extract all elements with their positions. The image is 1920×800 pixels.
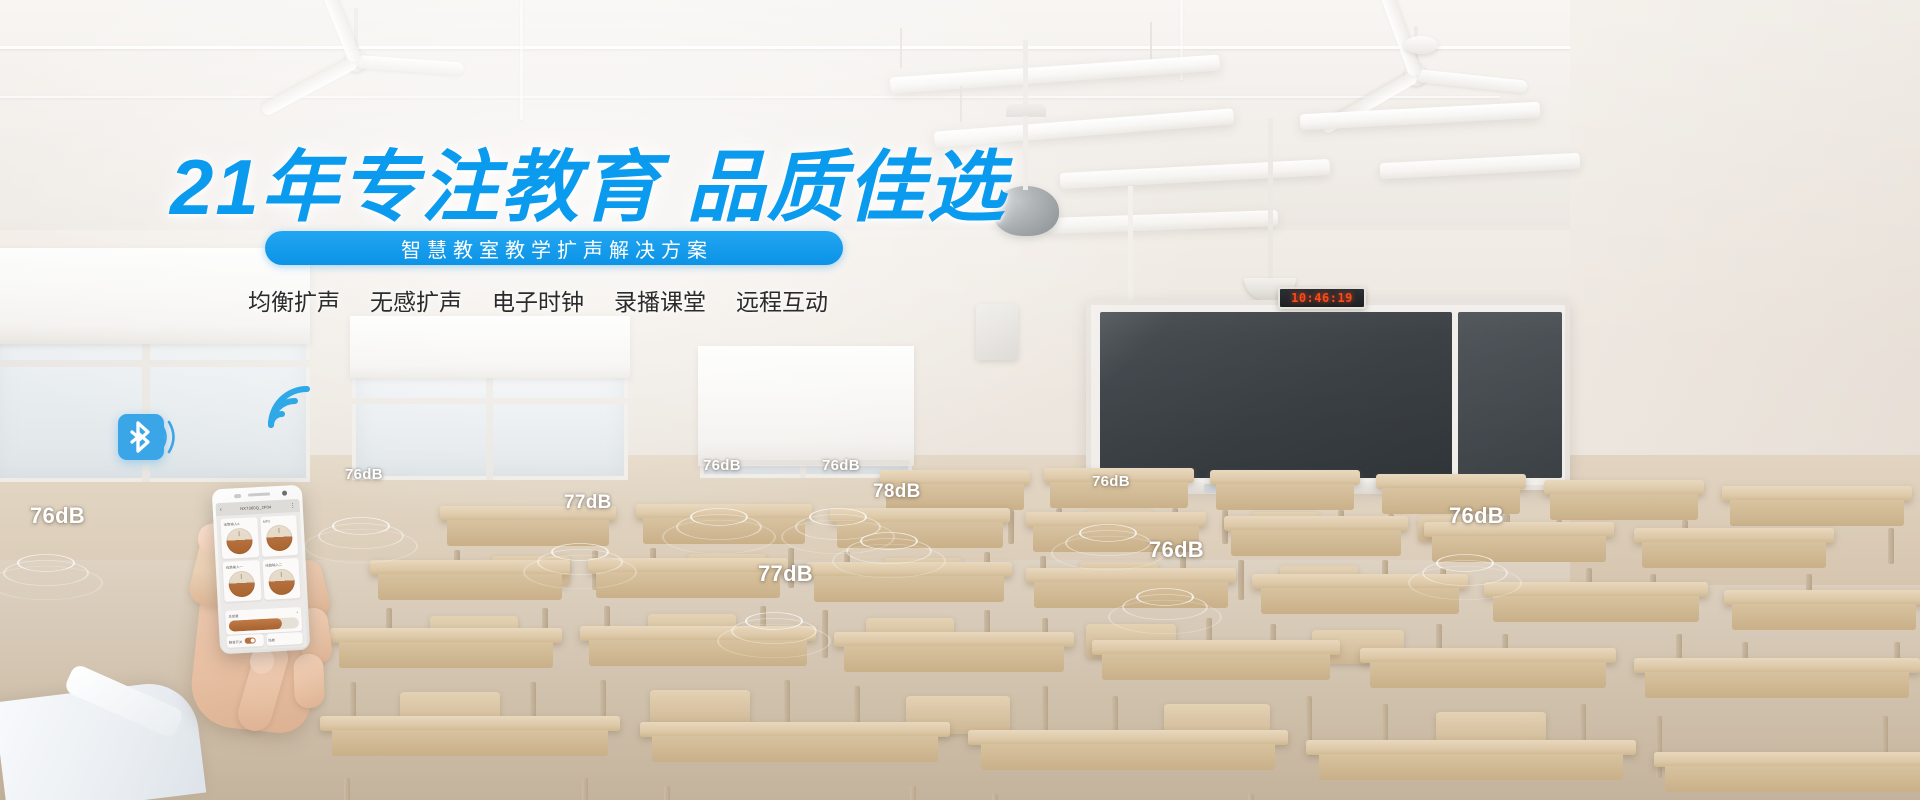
master-volume-card[interactable]: 总音量 + (225, 607, 302, 635)
volume-knob[interactable] (226, 527, 253, 554)
desk (968, 730, 1288, 800)
db-marker: 77dB (758, 561, 813, 587)
volume-knob[interactable] (228, 570, 255, 597)
speaker-rod (1268, 118, 1273, 278)
desk (330, 628, 562, 692)
desk (1092, 640, 1340, 706)
proximity-sensor (234, 494, 241, 498)
desk (1544, 480, 1704, 524)
volume-knob[interactable] (265, 524, 292, 551)
phone-button-1[interactable]: 场景 (266, 632, 303, 646)
electronic-clock: 10:46:19 (1278, 287, 1366, 309)
phone-button-label: 静音开关 (229, 639, 243, 645)
zone-label: 线路输入二 (265, 561, 296, 568)
desk (1484, 582, 1708, 642)
speaker-rod (1023, 116, 1028, 190)
smartphone[interactable]: ‹ NX7360Q_2F04 ⋮ 话筒输入AMP3线路输入一线路输入二 总音量 … (212, 485, 311, 654)
zone-card-2[interactable]: 线路输入一 (223, 560, 262, 602)
db-marker: 77dB (564, 492, 612, 514)
desk (1634, 658, 1920, 726)
plus-icon[interactable]: + (296, 610, 298, 615)
ceiling-seam (520, 0, 523, 120)
bluetooth-wave-icon (152, 420, 178, 454)
desk (636, 504, 812, 554)
desk (320, 716, 620, 792)
window-mullion (352, 398, 628, 404)
zone-card-3[interactable]: 线路输入二 (262, 558, 301, 600)
feature-list: 均衡扩声无感扩声电子时钟录播课堂远程互动 (248, 283, 908, 317)
feature-item-2: 电子时钟 (492, 283, 584, 317)
phone-screen[interactable]: ‹ NX7360Q_2F04 ⋮ 话筒输入AMP3线路输入一线路输入二 总音量 … (215, 499, 307, 651)
volume-slider-track[interactable] (229, 617, 299, 632)
desk (1252, 574, 1468, 632)
window-blind (350, 316, 630, 378)
db-marker: 76dB (703, 457, 741, 474)
desk (1634, 528, 1834, 580)
volume-slider-fill (229, 618, 283, 632)
ceiling-sensor (1404, 36, 1438, 54)
desk (1224, 516, 1408, 566)
headline-part2: 品质佳选 (687, 143, 1007, 231)
feature-item-1: 无感扩声 (370, 283, 462, 317)
desk (830, 508, 1010, 558)
finger (293, 653, 325, 708)
desk (1654, 752, 1920, 800)
phone-button-label: 场景 (268, 637, 275, 642)
zone-card-0[interactable]: 话筒输入A (220, 517, 259, 559)
app-title: NX7360Q_2F04 (225, 504, 287, 512)
db-marker: 78dB (873, 481, 921, 503)
speaker-rod (1023, 40, 1028, 108)
desk (1722, 486, 1912, 532)
db-marker: 76dB (30, 503, 85, 529)
db-marker: 76dB (822, 457, 860, 474)
db-marker: 76dB (1092, 473, 1130, 490)
desk (640, 722, 950, 800)
feature-item-4: 远程互动 (736, 283, 828, 317)
window-blind (698, 346, 914, 466)
desk (1360, 648, 1616, 714)
feature-item-3: 录播课堂 (614, 283, 706, 317)
desk (370, 560, 570, 616)
blackboard (1100, 312, 1452, 478)
feature-item-0: 均衡扩声 (248, 283, 340, 317)
desk (1026, 568, 1236, 626)
desk (1210, 470, 1360, 514)
wifi-signal-icon (265, 383, 313, 429)
master-volume-label: 总音量 (228, 613, 238, 619)
phone-bottom-buttons: 静音开关场景 (226, 632, 303, 648)
desk (1424, 522, 1614, 574)
db-marker: 76dB (1449, 503, 1504, 529)
zone-label: 线路输入一 (226, 563, 257, 570)
headline-part1: 21年专注教育 (170, 143, 661, 231)
volume-knob[interactable] (268, 568, 295, 595)
desk (806, 562, 1012, 618)
db-marker: 76dB (1149, 537, 1204, 563)
window-mullion (0, 360, 310, 367)
pendant-wire (960, 86, 962, 122)
more-vertical-icon[interactable]: ⋮ (290, 503, 296, 509)
classroom-banner: 10:46:19 76dB76dB77dB76dB76dB78dB77dB76d… (0, 0, 1920, 800)
desk (580, 626, 816, 690)
desk (1724, 590, 1920, 650)
desk (834, 632, 1074, 696)
subtitle-text: 智慧教室教学扩声解决方案 (395, 234, 713, 263)
db-marker: 76dB (345, 466, 383, 483)
chevron-left-icon[interactable]: ‹ (220, 506, 222, 512)
ceiling-seam (0, 96, 1500, 98)
front-camera (282, 491, 287, 496)
clock-time: 10:46:19 (1291, 291, 1353, 305)
blackboard-side-panel (1458, 312, 1562, 478)
earpiece-speaker (248, 492, 270, 496)
desk (1306, 740, 1636, 800)
mute-toggle[interactable] (244, 637, 255, 644)
zone-card-grid: 话筒输入AMP3线路输入一线路输入二 (220, 515, 300, 602)
subtitle-pill: 智慧教室教学扩声解决方案 (265, 231, 843, 265)
zone-label: MP3 (263, 518, 294, 524)
wall-control-box (976, 304, 1018, 360)
zone-card-1[interactable]: MP3 (260, 515, 299, 557)
page-title: 21年专注教育品质佳选 (170, 148, 1010, 228)
right-wall (1570, 0, 1920, 500)
zone-label: 话筒输入A (223, 520, 254, 527)
phone-button-0[interactable]: 静音开关 (226, 634, 263, 648)
pendant-wire (900, 28, 902, 68)
